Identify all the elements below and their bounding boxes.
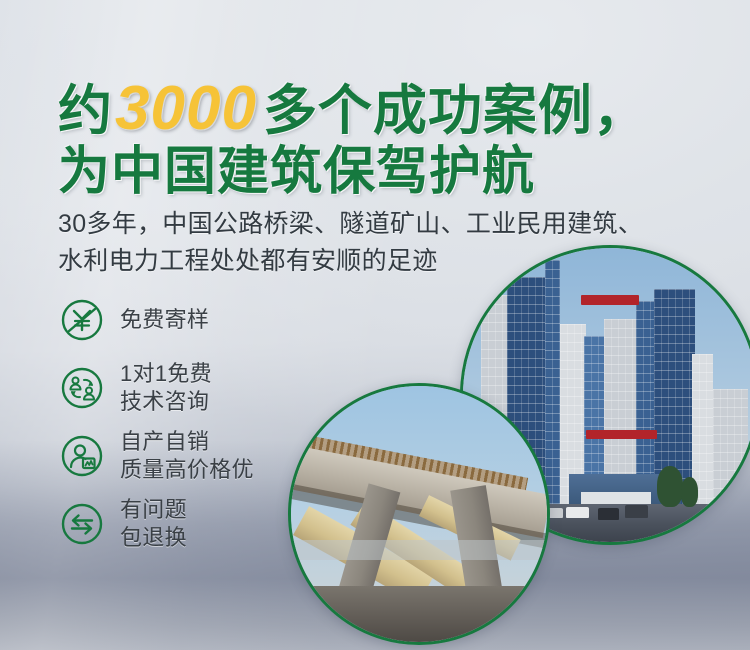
- building-car-dark: [598, 508, 619, 520]
- building-tree-far-right: [681, 477, 699, 506]
- subtitle-line-1: 30多年，中国公路桥梁、隧道矿山、工业民用建筑、: [58, 206, 643, 243]
- building-entrance-columns: [581, 492, 652, 504]
- headline-prefix: 约: [58, 81, 113, 141]
- building-tower-left-spire: [545, 260, 560, 507]
- bridge-distant-horizon: [291, 540, 547, 560]
- feature-label-self-production: 自产自销 质量高价格优: [120, 428, 254, 484]
- headline-suffix: 多个成功案例，: [263, 81, 648, 141]
- feature-label-returns-line-2: 包退换: [120, 524, 187, 552]
- headline-number: 3000: [113, 74, 263, 143]
- feature-item-returns: 有问题 包退换: [60, 500, 310, 548]
- bridge-photo-scene: [291, 386, 547, 642]
- feature-list: 免费寄样 1对1免费 技术咨询: [60, 296, 310, 568]
- subtitle-line-2: 水利电力工程处处都有安顺的足迹: [58, 243, 643, 280]
- headline-line-2: 为中国建筑保驾护航: [58, 146, 648, 198]
- building-tree-right: [657, 466, 683, 507]
- feature-label-free-sample-line-1: 免费寄样: [120, 306, 209, 334]
- building-car-white: [566, 507, 590, 519]
- headline: 约3000多个成功案例， 为中国建筑保驾护航: [58, 78, 648, 198]
- feature-label-consultation-line-2: 技术咨询: [120, 388, 212, 416]
- headline-line-1: 约3000多个成功案例，: [58, 78, 648, 140]
- feature-item-consultation: 1对1免费 技术咨询: [60, 364, 310, 412]
- feature-label-free-sample: 免费寄样: [120, 306, 209, 334]
- bridge-ground-rubble: [291, 586, 547, 642]
- feature-label-self-production-line-2: 质量高价格优: [120, 456, 254, 484]
- building-car-suv: [625, 505, 649, 518]
- person-with-chart-icon: [60, 434, 104, 478]
- feature-item-self-production: 自产自销 质量高价格优: [60, 432, 310, 480]
- feature-label-returns: 有问题 包退换: [120, 496, 187, 552]
- yuan-crossed-out-icon: [60, 298, 104, 342]
- building-facade-sign: [586, 430, 657, 439]
- building-low-rise-right: [713, 389, 748, 507]
- feature-item-free-sample: 免费寄样: [60, 296, 310, 344]
- feature-label-consultation: 1对1免费 技术咨询: [120, 360, 212, 416]
- feature-label-returns-line-1: 有问题: [120, 496, 187, 524]
- promo-banner: 约3000多个成功案例， 为中国建筑保驾护航 30多年，中国公路桥梁、隧道矿山、…: [0, 0, 750, 650]
- two-people-exchange-icon: [60, 366, 104, 410]
- two-way-arrows-icon: [60, 502, 104, 546]
- feature-label-consultation-line-1: 1对1免费: [120, 360, 212, 388]
- subtitle: 30多年，中国公路桥梁、隧道矿山、工业民用建筑、 水利电力工程处处都有安顺的足迹: [58, 206, 643, 280]
- bridge-photo: [288, 383, 550, 645]
- building-roof-sign: [581, 295, 640, 305]
- feature-label-self-production-line-1: 自产自销: [120, 428, 254, 456]
- headline-line-2-text: 为中国建筑保驾护航: [58, 143, 535, 201]
